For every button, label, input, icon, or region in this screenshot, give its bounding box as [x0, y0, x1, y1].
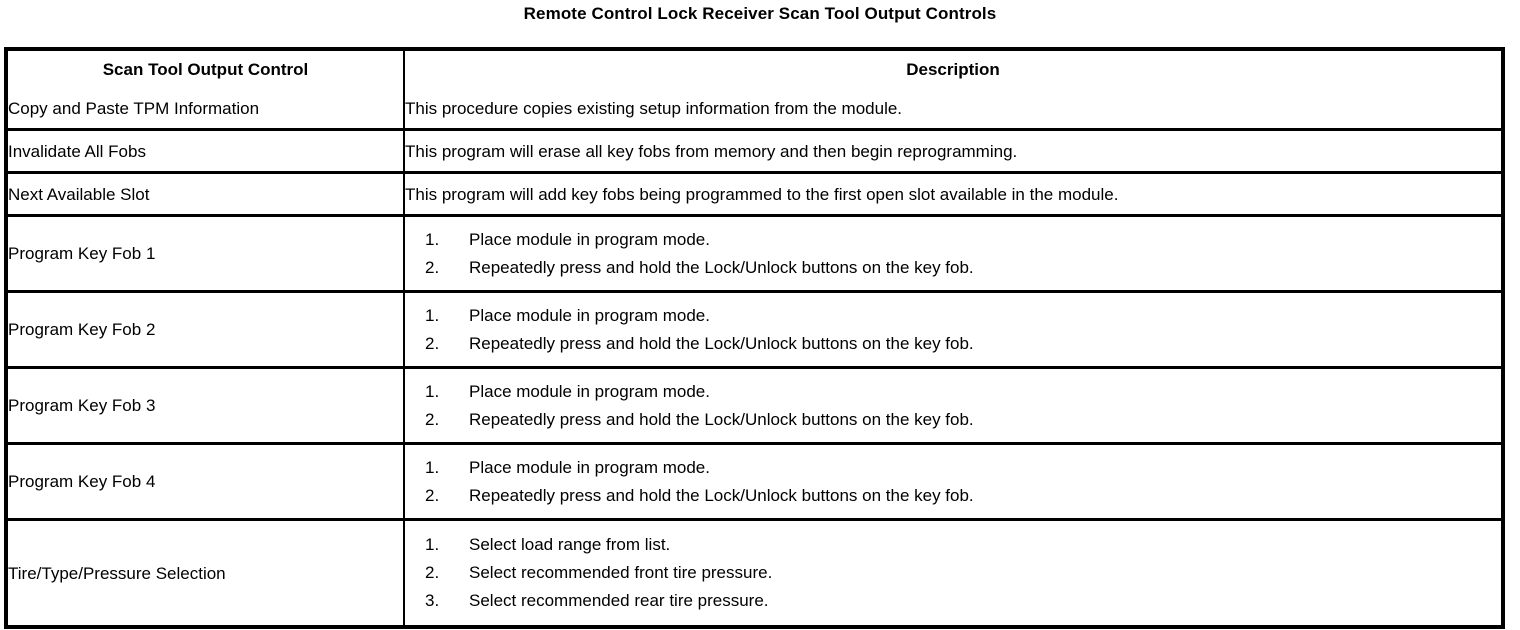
- table-row: Next Available SlotThis program will add…: [8, 173, 1501, 216]
- control-name-text: Program Key Fob 3: [8, 396, 155, 415]
- table-row: Program Key Fob 11.Place module in progr…: [8, 216, 1501, 292]
- table-row: Copy and Paste TPM InformationThis proce…: [8, 88, 1501, 130]
- column-header-description: Description: [404, 51, 1501, 88]
- step-number: 1.: [425, 531, 453, 559]
- cell-description: 1.Place module in program mode.2.Repeate…: [404, 216, 1501, 292]
- step-text: Repeatedly press and hold the Lock/Unloc…: [469, 486, 974, 505]
- description-step-item: 1.Place module in program mode.: [413, 302, 1495, 330]
- page-title: Remote Control Lock Receiver Scan Tool O…: [0, 3, 1520, 25]
- step-text: Place module in program mode.: [469, 306, 710, 325]
- control-name-text: Next Available Slot: [8, 185, 149, 204]
- step-text: Select load range from list.: [469, 535, 670, 554]
- description-step-item: 2.Repeatedly press and hold the Lock/Unl…: [413, 330, 1495, 358]
- control-name-text: Program Key Fob 1: [8, 244, 155, 263]
- cell-scan-tool-output-control: Copy and Paste TPM Information: [8, 88, 404, 130]
- step-number: 2.: [425, 559, 453, 587]
- step-text: Repeatedly press and hold the Lock/Unloc…: [469, 334, 974, 353]
- cell-description: This procedure copies existing setup inf…: [404, 88, 1501, 130]
- table-row: Tire/Type/Pressure Selection1.Select loa…: [8, 520, 1501, 626]
- description-step-list: 1.Place module in program mode.2.Repeate…: [413, 378, 1495, 434]
- step-text: Select recommended rear tire pressure.: [469, 591, 769, 610]
- step-text: Place module in program mode.: [469, 458, 710, 477]
- control-name-text: Copy and Paste TPM Information: [8, 99, 259, 118]
- step-number: 1.: [425, 454, 453, 482]
- table-header: Scan Tool Output Control Description: [8, 51, 1501, 88]
- cell-description: This program will erase all key fobs fro…: [404, 130, 1501, 173]
- description-step-list: 1.Select load range from list.2.Select r…: [413, 531, 1495, 615]
- step-number: 2.: [425, 330, 453, 358]
- step-number: 1.: [425, 378, 453, 406]
- step-number: 2.: [425, 482, 453, 510]
- step-number: 3.: [425, 587, 453, 615]
- step-text: Place module in program mode.: [469, 382, 710, 401]
- table-row: Program Key Fob 31.Place module in progr…: [8, 368, 1501, 444]
- scan-tool-output-controls-table: Scan Tool Output Control Description Cop…: [8, 51, 1501, 625]
- step-number: 1.: [425, 226, 453, 254]
- step-number: 2.: [425, 254, 453, 282]
- table-header-row: Scan Tool Output Control Description: [8, 51, 1501, 88]
- description-step-item: 2.Repeatedly press and hold the Lock/Unl…: [413, 406, 1495, 434]
- cell-description: 1.Place module in program mode.2.Repeate…: [404, 368, 1501, 444]
- description-step-item: 3.Select recommended rear tire pressure.: [413, 587, 1495, 615]
- description-step-item: 1.Select load range from list.: [413, 531, 1495, 559]
- cell-scan-tool-output-control: Program Key Fob 4: [8, 444, 404, 520]
- table-row: Program Key Fob 41.Place module in progr…: [8, 444, 1501, 520]
- cell-description: 1.Select load range from list.2.Select r…: [404, 520, 1501, 626]
- cell-scan-tool-output-control: Next Available Slot: [8, 173, 404, 216]
- step-text: Select recommended front tire pressure.: [469, 563, 772, 582]
- step-text: Repeatedly press and hold the Lock/Unloc…: [469, 258, 974, 277]
- cell-description: 1.Place module in program mode.2.Repeate…: [404, 292, 1501, 368]
- control-name-text: Invalidate All Fobs: [8, 142, 146, 161]
- cell-scan-tool-output-control: Program Key Fob 3: [8, 368, 404, 444]
- cell-description: This program will add key fobs being pro…: [404, 173, 1501, 216]
- description-step-item: 1.Place module in program mode.: [413, 454, 1495, 482]
- description-step-item: 1.Place module in program mode.: [413, 378, 1495, 406]
- description-step-item: 2.Select recommended front tire pressure…: [413, 559, 1495, 587]
- column-header-scan-tool-output-control: Scan Tool Output Control: [8, 51, 404, 88]
- step-number: 1.: [425, 302, 453, 330]
- control-name-text: Program Key Fob 2: [8, 320, 155, 339]
- table-body: Copy and Paste TPM InformationThis proce…: [8, 88, 1501, 625]
- spec-table-container: Scan Tool Output Control Description Cop…: [4, 47, 1505, 629]
- description-text: This program will erase all key fobs fro…: [405, 142, 1017, 161]
- table-row: Program Key Fob 21.Place module in progr…: [8, 292, 1501, 368]
- description-step-item: 1.Place module in program mode.: [413, 226, 1495, 254]
- description-step-item: 2.Repeatedly press and hold the Lock/Unl…: [413, 482, 1495, 510]
- description-step-list: 1.Place module in program mode.2.Repeate…: [413, 454, 1495, 510]
- step-number: 2.: [425, 406, 453, 434]
- description-text: This procedure copies existing setup inf…: [405, 99, 902, 118]
- cell-scan-tool-output-control: Program Key Fob 2: [8, 292, 404, 368]
- document-page: Remote Control Lock Receiver Scan Tool O…: [0, 0, 1520, 630]
- table-row: Invalidate All FobsThis program will era…: [8, 130, 1501, 173]
- description-step-list: 1.Place module in program mode.2.Repeate…: [413, 226, 1495, 282]
- description-step-list: 1.Place module in program mode.2.Repeate…: [413, 302, 1495, 358]
- step-text: Repeatedly press and hold the Lock/Unloc…: [469, 410, 974, 429]
- cell-scan-tool-output-control: Tire/Type/Pressure Selection: [8, 520, 404, 626]
- control-name-text: Tire/Type/Pressure Selection: [8, 564, 226, 583]
- control-name-text: Program Key Fob 4: [8, 472, 155, 491]
- cell-description: 1.Place module in program mode.2.Repeate…: [404, 444, 1501, 520]
- description-step-item: 2.Repeatedly press and hold the Lock/Unl…: [413, 254, 1495, 282]
- cell-scan-tool-output-control: Invalidate All Fobs: [8, 130, 404, 173]
- cell-scan-tool-output-control: Program Key Fob 1: [8, 216, 404, 292]
- description-text: This program will add key fobs being pro…: [405, 185, 1118, 204]
- step-text: Place module in program mode.: [469, 230, 710, 249]
